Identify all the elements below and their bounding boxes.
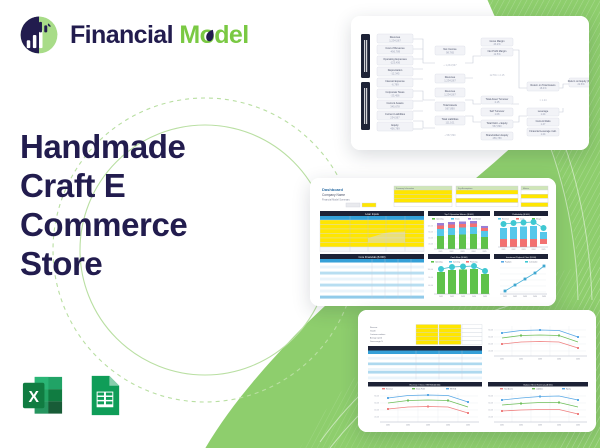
- svg-text:Contribution: Contribution: [472, 217, 481, 220]
- node-group-col5: Return on Equity (ROE)22.8%: [568, 78, 589, 87]
- svg-text:20X2: 20X2: [450, 296, 454, 298]
- svg-text:1.24: 1.24: [541, 133, 546, 136]
- svg-text:111,101: 111,101: [446, 120, 456, 124]
- dashboard-title: Dashboard: [322, 187, 343, 192]
- svg-text:Operating: Operating: [436, 217, 443, 220]
- svg-text:20X2: 20X2: [519, 425, 523, 427]
- svg-text:20X5: 20X5: [576, 425, 580, 427]
- svg-text:Metrics: Metrics: [523, 187, 529, 190]
- svg-text:20X5: 20X5: [483, 251, 487, 253]
- svg-text:Total Assets: Total Assets: [504, 387, 513, 390]
- svg-text:80,000: 80,000: [488, 396, 493, 398]
- svg-text:Loan Inputs: Loan Inputs: [365, 212, 379, 216]
- brand-name-part2-pre: M: [179, 21, 199, 49]
- svg-text:Growth: Growth: [370, 330, 376, 333]
- svg-text:Customer numbers: Customer numbers: [370, 333, 385, 336]
- file-format-icons: X: [19, 372, 127, 419]
- svg-text:X: X: [28, 389, 39, 406]
- svg-text:-12,345: -12,345: [391, 71, 400, 75]
- side-tab-balance-sheet: [361, 82, 370, 130]
- svg-text:20X2: 20X2: [450, 251, 454, 253]
- svg-text:Gross Profit: Gross Profit: [416, 387, 425, 390]
- svg-text:20X5: 20X5: [483, 296, 487, 298]
- svg-text:80,000: 80,000: [488, 330, 493, 332]
- svg-text:÷ 1,234,567: ÷ 1,234,567: [443, 64, 457, 67]
- svg-text:20X4: 20X4: [472, 251, 476, 253]
- svg-text:÷ 567,890: ÷ 567,890: [444, 134, 456, 137]
- svg-text:12.5%: 12.5%: [493, 53, 501, 56]
- svg-text:40,000: 40,000: [488, 344, 493, 346]
- svg-text:20,000: 20,000: [428, 244, 433, 246]
- svg-text:Cumulative: Cumulative: [529, 260, 538, 263]
- financial-dashboard-card[interactable]: Dashboard Company Name Financial Model S…: [310, 178, 556, 306]
- svg-text:20X5: 20X5: [542, 296, 546, 298]
- svg-text:-123,456: -123,456: [390, 60, 401, 64]
- svg-text:Operating: Operating: [435, 260, 442, 263]
- svg-text:567,890: 567,890: [445, 106, 455, 110]
- svg-text:567,890: 567,890: [492, 125, 502, 128]
- svg-text:20X4: 20X4: [446, 425, 450, 427]
- side-tab-income-statement: [361, 34, 370, 78]
- svg-text:Gross: Gross: [455, 217, 460, 220]
- financial-model-circle-chart-logo: [18, 14, 60, 56]
- svg-text:20X4: 20X4: [533, 296, 537, 298]
- svg-text:40,000: 40,000: [488, 410, 493, 412]
- svg-text:Key Assumptions: Key Assumptions: [458, 187, 473, 190]
- svg-text:Investing: Investing: [453, 260, 460, 263]
- svg-text:20X1: 20X1: [386, 425, 390, 427]
- svg-text:22.8%: 22.8%: [577, 83, 585, 86]
- svg-text:234,567: 234,567: [390, 115, 400, 119]
- svg-text:40,000: 40,000: [428, 285, 433, 287]
- svg-text:Financial Model Summary: Financial Model Summary: [322, 199, 350, 202]
- svg-text:20X1: 20X1: [502, 249, 506, 251]
- svg-text:20X3: 20X3: [538, 359, 542, 361]
- svg-text:12.5% × 2.15: 12.5% × 2.15: [490, 74, 505, 77]
- svg-text:20X3: 20X3: [461, 251, 465, 253]
- svg-text:20X4: 20X4: [557, 359, 561, 361]
- svg-text:1,234,567: 1,234,567: [389, 38, 401, 42]
- svg-text:40,000: 40,000: [374, 410, 379, 412]
- slide-canvas: Financial Model Handmade Craft E Commerc…: [0, 0, 600, 448]
- excel-icon[interactable]: X: [19, 372, 66, 419]
- svg-text:40,000: 40,000: [428, 238, 433, 240]
- svg-text:20X4: 20X4: [557, 425, 561, 427]
- brand-name: Financial Model: [70, 23, 249, 48]
- dupont-analysis-diagram-card[interactable]: Revenue1,234,567 Cost of Revenue-456,789…: [351, 16, 589, 150]
- svg-text:456,789: 456,789: [390, 126, 400, 130]
- svg-text:60,000: 60,000: [488, 403, 493, 405]
- svg-text:Revenue: Revenue: [386, 388, 393, 390]
- financial-dashboard: Dashboard Company Name Financial Model S…: [310, 178, 556, 306]
- svg-text:98,765: 98,765: [446, 50, 454, 54]
- svg-text:20X2: 20X2: [513, 296, 517, 298]
- svg-text:20X5: 20X5: [542, 249, 546, 251]
- svg-text:20X1: 20X1: [503, 296, 507, 298]
- brand-name-o: o: [200, 23, 215, 48]
- svg-text:2.15: 2.15: [495, 101, 500, 104]
- dashboard-subtitle: Company Name: [322, 193, 345, 197]
- svg-text:20X1: 20X1: [500, 359, 504, 361]
- svg-text:20,000: 20,000: [374, 417, 379, 419]
- svg-text:Revenue / Gross / EBITDA ($ 00: Revenue / Gross / EBITDA ($ 000): [410, 383, 441, 386]
- svg-text:Cash Flow ($ 000): Cash Flow ($ 000): [451, 257, 468, 259]
- svg-text:18.4%: 18.4%: [539, 87, 547, 90]
- svg-text:20X2: 20X2: [406, 425, 410, 427]
- svg-text:456,789: 456,789: [492, 137, 502, 140]
- svg-text:Payback: Payback: [505, 261, 512, 263]
- svg-text:20X1: 20X1: [439, 251, 443, 253]
- svg-text:-456,789: -456,789: [390, 49, 401, 53]
- svg-text:Top 5 Operation Metrics ($ 000: Top 5 Operation Metrics ($ 000): [444, 213, 474, 216]
- svg-text:Investment Payback Chart ($ 00: Investment Payback Chart ($ 000): [506, 256, 537, 259]
- svg-text:20X5: 20X5: [466, 425, 470, 427]
- node-group-col4: Return on Total Assets18.4% Leverage1.24…: [527, 82, 559, 136]
- svg-text:20X2: 20X2: [519, 359, 523, 361]
- dupont-analysis-diagram: Revenue1,234,567 Cost of Revenue-456,789…: [351, 16, 589, 150]
- svg-text:Revenue: Revenue: [370, 327, 377, 329]
- svg-text:Balance Sheet Summary ($ 000): Balance Sheet Summary ($ 000): [523, 383, 552, 386]
- svg-text:20X3: 20X3: [523, 296, 527, 298]
- svg-text:20,000: 20,000: [488, 417, 493, 419]
- financial-statements-charts-card[interactable]: Revenue Growth Customer numbers Average …: [358, 310, 596, 432]
- svg-text:20X3: 20X3: [461, 296, 465, 298]
- svg-text:1.08: 1.08: [495, 113, 500, 116]
- brand-name-part1: Financial: [70, 21, 173, 49]
- svg-text:20X4: 20X4: [472, 296, 476, 298]
- google-sheets-icon[interactable]: [80, 372, 127, 419]
- svg-text:1.47: 1.47: [541, 123, 546, 126]
- svg-text:Summary Information: Summary Information: [396, 187, 414, 190]
- svg-text:1,234,567: 1,234,567: [444, 92, 456, 96]
- svg-text:60,000: 60,000: [374, 403, 379, 405]
- svg-text:Profitability ($ 000): Profitability ($ 000): [512, 213, 530, 216]
- svg-text:Gross margin %: Gross margin %: [370, 341, 383, 343]
- svg-text:20,000: 20,000: [488, 351, 493, 353]
- svg-text:20X4: 20X4: [532, 249, 536, 251]
- svg-text:Average spend: Average spend: [370, 337, 382, 340]
- svg-text:80,000: 80,000: [374, 396, 379, 398]
- svg-text:Margin: Margin: [536, 217, 541, 220]
- svg-text:1.24: 1.24: [541, 113, 546, 116]
- svg-text:Liabilities: Liabilities: [536, 387, 543, 390]
- svg-text:20X5: 20X5: [576, 359, 580, 361]
- svg-text:20X1: 20X1: [500, 425, 504, 427]
- svg-text:120,000: 120,000: [428, 226, 434, 228]
- brand-logo: Financial Model: [18, 14, 249, 56]
- svg-text:20X2: 20X2: [512, 249, 516, 251]
- page-title: Handmade Craft E Commerce Store: [20, 128, 250, 284]
- leaf-icon: [205, 29, 214, 42]
- svg-text:Core Financials ($ 000): Core Financials ($ 000): [359, 255, 386, 259]
- svg-text:EBITDA: EBITDA: [450, 387, 457, 390]
- node-group-col1: Revenue1,234,567 Cost of Revenue-456,789…: [377, 34, 413, 131]
- svg-text:60,000: 60,000: [488, 337, 493, 339]
- svg-text:120,000: 120,000: [428, 269, 434, 271]
- svg-text:80,000: 80,000: [428, 232, 433, 234]
- svg-text:345,678: 345,678: [390, 104, 400, 108]
- svg-text:× 1.24: × 1.24: [539, 99, 547, 102]
- svg-text:Equity: Equity: [566, 387, 571, 390]
- brand-name-part2-post: del: [214, 21, 248, 49]
- financial-statements-charts: Revenue Growth Customer numbers Average …: [358, 310, 596, 432]
- svg-text:-6,789: -6,789: [391, 82, 399, 86]
- svg-text:20X3: 20X3: [426, 425, 430, 427]
- svg-text:20X3: 20X3: [522, 249, 526, 251]
- svg-text:-23,456: -23,456: [391, 93, 400, 97]
- svg-text:Revenue: Revenue: [502, 218, 509, 220]
- svg-text:20X3: 20X3: [538, 425, 542, 427]
- svg-text:43.2%: 43.2%: [493, 43, 501, 46]
- svg-text:1,234,567: 1,234,567: [444, 78, 456, 82]
- svg-text:20X1: 20X1: [439, 296, 443, 298]
- svg-text:80,000: 80,000: [428, 277, 433, 279]
